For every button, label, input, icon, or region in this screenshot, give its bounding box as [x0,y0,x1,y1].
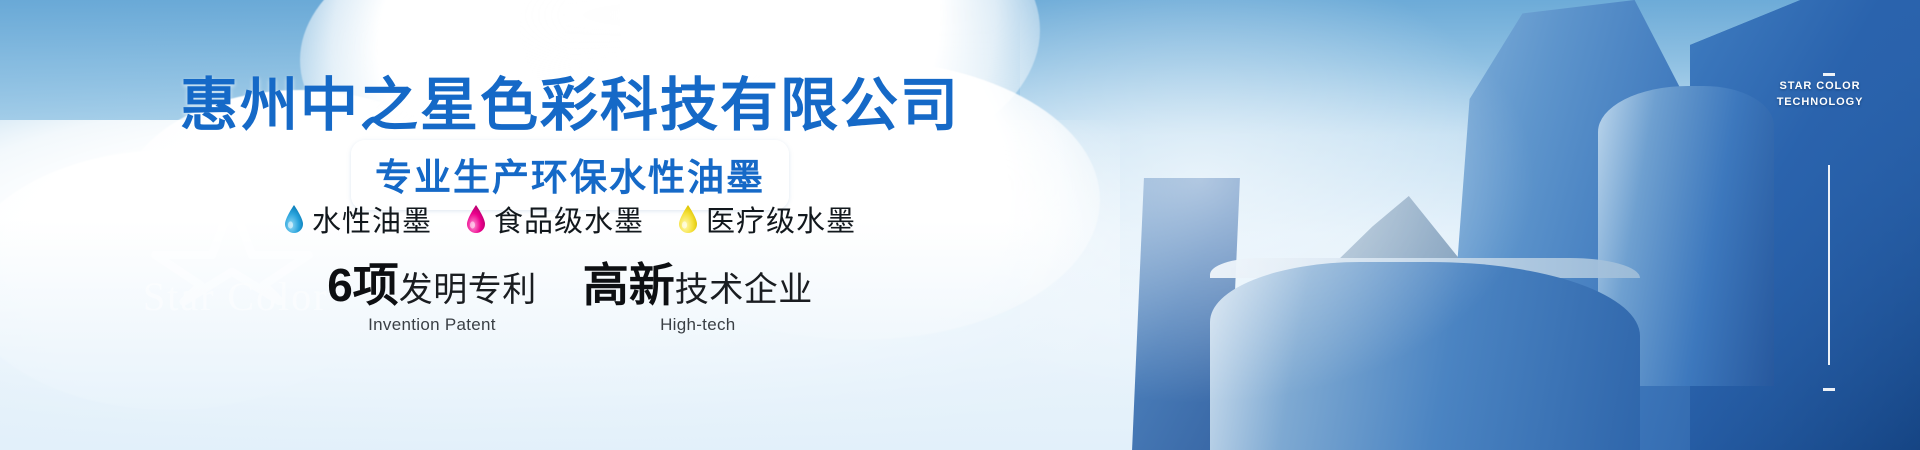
product-feature-list: 水性油墨 食品级水墨 [0,198,1140,240]
badge-emphasis: 6项 [327,259,399,311]
company-title: 惠州中之星色彩科技有限公司 [0,58,1140,142]
building-brand-line2: TECHNOLOGY [1760,94,1880,110]
badge-emphasis: 高新 [583,259,675,311]
building-brand-line1: STAR COLOR [1760,78,1880,94]
building-brand-text: STAR COLOR TECHNOLOGY [1760,78,1880,110]
credential-badge: 6项发明专利 Invention Patent [327,262,537,335]
feature-item: 食品级水墨 [466,198,644,240]
badge-english-label: Invention Patent [327,315,537,335]
badge-remainder: 发明专利 [399,271,537,309]
credential-badge-list: 6项发明专利 Invention Patent 高新技术企业 High-tech [0,262,1140,335]
brand-tick-top-icon [1823,73,1835,76]
feature-item: 医疗级水墨 [678,198,856,240]
company-hero-banner: STAR COLOR TECHNOLOGY Star Color 惠州中之星色彩… [0,0,1920,450]
feature-item: 水性油墨 [284,198,432,240]
water-drop-icon [466,205,486,233]
badge-english-label: High-tech [583,315,813,335]
brand-tick-bottom-icon [1823,388,1835,391]
badge-chinese-line: 高新技术企业 [583,262,813,310]
credential-badge: 高新技术企业 High-tech [583,262,813,335]
brand-vertical-rule [1828,165,1830,365]
water-drop-icon [678,205,698,233]
badge-chinese-line: 6项发明专利 [327,262,537,310]
banner-content: 惠州中之星色彩科技有限公司 专业生产环保水性油墨 水性油墨 [0,0,1140,450]
feature-label: 医疗级水墨 [706,198,856,240]
water-drop-icon [284,205,304,233]
building-curved-front [1210,262,1640,450]
badge-remainder: 技术企业 [675,271,813,309]
skyscrapers-photo: STAR COLOR TECHNOLOGY [1130,0,1920,450]
feature-label: 食品级水墨 [494,198,644,240]
feature-label: 水性油墨 [312,198,432,240]
